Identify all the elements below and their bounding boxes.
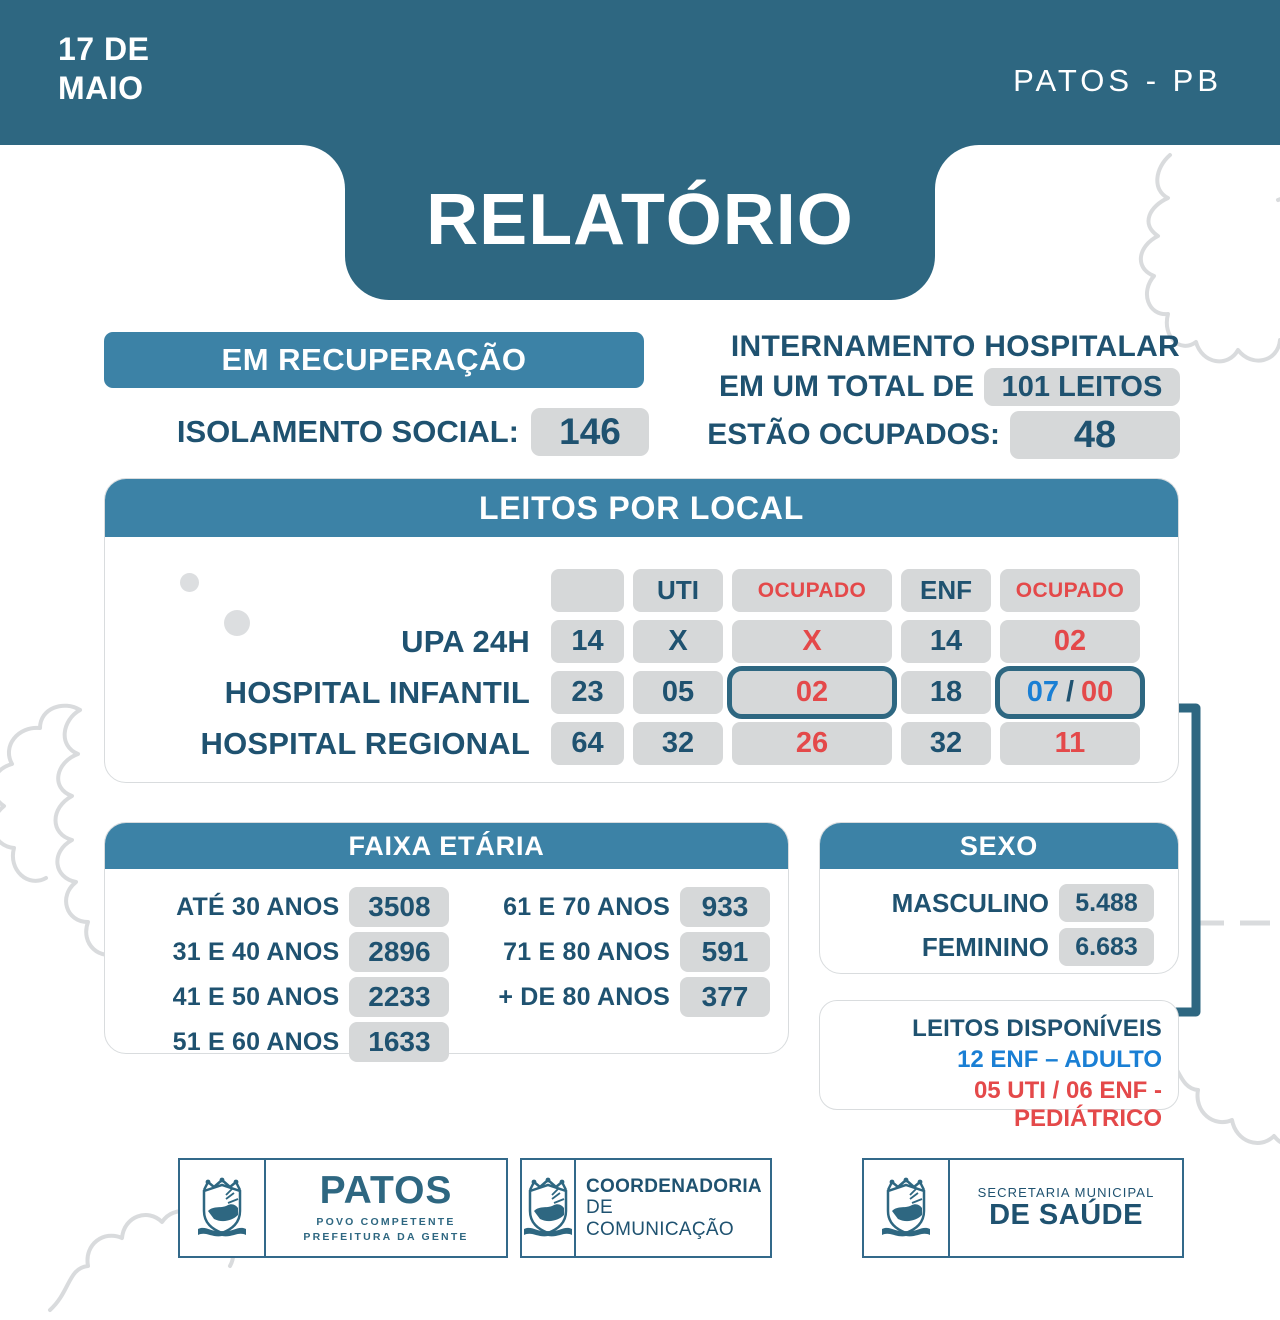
cell-regional-enf: 32 bbox=[901, 722, 991, 765]
cell-infantil-uti-ocupado-highlighted: 02 bbox=[732, 671, 892, 714]
report-date-line1: 17 DE bbox=[58, 30, 149, 69]
logo-coordenadoria-line1: COORDENADORIA bbox=[586, 1176, 762, 1197]
infantil-enf-ocupado-a: 07 bbox=[1027, 676, 1059, 709]
sex-value-feminino: 6.683 bbox=[1059, 928, 1154, 966]
col-header-total bbox=[551, 569, 624, 612]
cell-infantil-total: 23 bbox=[551, 671, 624, 714]
available-pediatric: 05 UTI / 06 ENF - PEDIÁTRICO bbox=[820, 1077, 1162, 1133]
logo-patos-name: PATOS bbox=[320, 1171, 453, 1210]
hospital-total-value: 101 LEITOS bbox=[984, 368, 1180, 406]
age-card-title: FAIXA ETÁRIA bbox=[348, 831, 544, 862]
sex-card-body: MASCULINO 5.488 FEMININO 6.683 bbox=[820, 869, 1178, 967]
logo-patos-text: PATOS POVO COMPETENTE PREFEITURA DA GENT… bbox=[266, 1160, 506, 1256]
age-value-ate30: 3508 bbox=[349, 887, 449, 927]
hospital-total-label: EM UM TOTAL DE bbox=[719, 370, 974, 404]
cell-regional-uti-ocupado: 26 bbox=[732, 722, 892, 765]
logo-secretaria-saude: SECRETARIA MUNICIPAL DE SAÚDE bbox=[862, 1158, 1184, 1258]
available-adult: 12 ENF – ADULTO bbox=[820, 1046, 1162, 1074]
age-row: 41 E 50 ANOS 2233 bbox=[123, 977, 449, 1017]
logo-coordenadoria-line2: DE COMUNICAÇÃO bbox=[586, 1197, 762, 1240]
hospitalization-stat: INTERNAMENTO HOSPITALAR EM UM TOTAL DE 1… bbox=[660, 328, 1180, 459]
age-row: 31 E 40 ANOS 2896 bbox=[123, 932, 449, 972]
isolation-value: 146 bbox=[531, 408, 649, 456]
logo-patos-tagline-1: POVO COMPETENTE bbox=[303, 1215, 468, 1230]
isolation-stat: ISOLAMENTO SOCIAL: 146 bbox=[104, 406, 649, 458]
beds-by-location-card: LEITOS POR LOCAL UTI OCUPADO ENF OCUPADO… bbox=[104, 478, 1179, 783]
age-card-header: FAIXA ETÁRIA bbox=[105, 823, 788, 869]
sex-card-header: SEXO bbox=[820, 823, 1178, 869]
hospitalization-occupied-row: ESTÃO OCUPADOS: 48 bbox=[660, 411, 1180, 459]
logo-saude-line2: DE SAÚDE bbox=[989, 1200, 1143, 1230]
age-row: 71 E 80 ANOS 591 bbox=[455, 932, 770, 972]
age-value-61-70: 933 bbox=[680, 887, 770, 927]
city-label: PATOS - PB bbox=[1013, 63, 1222, 99]
top-bar: 17 DE MAIO PATOS - PB bbox=[0, 0, 1280, 145]
cell-infantil-uti: 05 bbox=[633, 671, 723, 714]
row-label-hospital-regional: HOSPITAL REGIONAL bbox=[171, 726, 542, 762]
hospital-occupied-value: 48 bbox=[1010, 411, 1180, 459]
sex-label-feminino: FEMININO bbox=[922, 932, 1049, 963]
recovery-label: EM RECUPERAÇÃO bbox=[222, 342, 527, 378]
age-label-61-70: 61 E 70 ANOS bbox=[455, 893, 670, 922]
age-value-41-50: 2233 bbox=[349, 977, 449, 1017]
title-notch-left bbox=[297, 145, 345, 193]
coat-of-arms-icon bbox=[522, 1160, 576, 1256]
row-label-hospital-infantil: HOSPITAL INFANTIL bbox=[171, 675, 542, 711]
cell-upa-uti: X bbox=[633, 620, 723, 663]
age-column-right: 61 E 70 ANOS 933 71 E 80 ANOS 591 + DE 8… bbox=[455, 887, 770, 1062]
cell-regional-total: 64 bbox=[551, 722, 624, 765]
title-notch-right bbox=[935, 145, 983, 193]
logo-patos-tagline-2: PREFEITURA DA GENTE bbox=[303, 1230, 468, 1245]
col-header-enf-ocupado: OCUPADO bbox=[1000, 569, 1140, 612]
age-row: ATÉ 30 ANOS 3508 bbox=[123, 887, 449, 927]
footer-logos: PATOS POVO COMPETENTE PREFEITURA DA GENT… bbox=[0, 1152, 1280, 1264]
report-date-line2: MAIO bbox=[58, 69, 149, 108]
cell-upa-uti-ocupado: X bbox=[732, 620, 892, 663]
age-label-41-50: 41 E 50 ANOS bbox=[123, 983, 339, 1012]
hospitalization-total-row: EM UM TOTAL DE 101 LEITOS bbox=[660, 368, 1180, 406]
age-row: + DE 80 ANOS 377 bbox=[455, 977, 770, 1017]
table-header-row: UTI OCUPADO ENF OCUPADO bbox=[171, 569, 1140, 612]
age-value-over80: 377 bbox=[680, 977, 770, 1017]
age-card-body: ATÉ 30 ANOS 3508 31 E 40 ANOS 2896 41 E … bbox=[105, 869, 788, 1062]
cell-upa-enf-ocupado: 02 bbox=[1000, 620, 1140, 663]
page-title-label: RELATÓRIO bbox=[426, 184, 854, 256]
infantil-enf-ocupado-sep: / bbox=[1066, 676, 1074, 709]
age-column-left: ATÉ 30 ANOS 3508 31 E 40 ANOS 2896 41 E … bbox=[123, 887, 449, 1062]
age-label-51-60: 51 E 60 ANOS bbox=[123, 1028, 339, 1057]
age-label-31-40: 31 E 40 ANOS bbox=[123, 938, 339, 967]
sex-value-masculino: 5.488 bbox=[1059, 884, 1154, 922]
cell-regional-enf-ocupado: 11 bbox=[1000, 722, 1140, 765]
cell-regional-uti: 32 bbox=[633, 722, 723, 765]
cell-upa-total: 14 bbox=[551, 620, 624, 663]
hospitalization-title: INTERNAMENTO HOSPITALAR bbox=[660, 328, 1180, 366]
col-header-enf: ENF bbox=[901, 569, 991, 612]
age-range-card: FAIXA ETÁRIA ATÉ 30 ANOS 3508 31 E 40 AN… bbox=[104, 822, 789, 1054]
age-value-51-60: 1633 bbox=[349, 1022, 449, 1062]
age-row: 51 E 60 ANOS 1633 bbox=[123, 1022, 449, 1062]
age-row: 61 E 70 ANOS 933 bbox=[455, 887, 770, 927]
logo-patos: PATOS POVO COMPETENTE PREFEITURA DA GENT… bbox=[178, 1158, 508, 1258]
recovery-badge: EM RECUPERAÇÃO bbox=[104, 332, 644, 388]
age-label-71-80: 71 E 80 ANOS bbox=[455, 938, 670, 967]
isolation-label: ISOLAMENTO SOCIAL: bbox=[177, 414, 519, 450]
col-header-uti: UTI bbox=[633, 569, 723, 612]
hospital-occupied-label: ESTÃO OCUPADOS: bbox=[707, 418, 1000, 452]
cell-infantil-enf: 18 bbox=[901, 671, 991, 714]
sex-card-title: SEXO bbox=[960, 831, 1038, 862]
report-date: 17 DE MAIO bbox=[58, 30, 149, 108]
logo-coordenadoria: COORDENADORIA DE COMUNICAÇÃO bbox=[520, 1158, 772, 1258]
sex-card: SEXO MASCULINO 5.488 FEMININO 6.683 bbox=[819, 822, 1179, 974]
summary-stats: EM RECUPERAÇÃO ISOLAMENTO SOCIAL: 146 IN… bbox=[0, 330, 1280, 470]
page-title: RELATÓRIO bbox=[345, 145, 935, 300]
coat-of-arms-icon bbox=[864, 1160, 950, 1256]
table-row: UPA 24H 14 X X 14 02 bbox=[171, 620, 1140, 663]
sex-label-masculino: MASCULINO bbox=[892, 888, 1049, 919]
table-row: HOSPITAL REGIONAL 64 32 26 32 11 bbox=[171, 722, 1140, 765]
row-label-upa: UPA 24H bbox=[171, 624, 542, 660]
logo-coordenadoria-text: COORDENADORIA DE COMUNICAÇÃO bbox=[576, 1160, 772, 1256]
coat-of-arms-icon bbox=[180, 1160, 266, 1256]
cell-upa-enf: 14 bbox=[901, 620, 991, 663]
available-beds-card: LEITOS DISPONÍVEIS 12 ENF – ADULTO 05 UT… bbox=[819, 1000, 1179, 1110]
sex-row: MASCULINO 5.488 bbox=[838, 883, 1154, 923]
logo-secretaria-saude-text: SECRETARIA MUNICIPAL DE SAÚDE bbox=[950, 1160, 1182, 1256]
beds-card-title: LEITOS POR LOCAL bbox=[479, 490, 804, 527]
beds-card-header: LEITOS POR LOCAL bbox=[105, 479, 1178, 537]
beds-table: UTI OCUPADO ENF OCUPADO UPA 24H 14 X X 1… bbox=[171, 569, 1140, 765]
sex-row: FEMININO 6.683 bbox=[838, 927, 1154, 967]
logo-patos-tagline: POVO COMPETENTE PREFEITURA DA GENTE bbox=[303, 1215, 468, 1244]
age-value-31-40: 2896 bbox=[349, 932, 449, 972]
available-title: LEITOS DISPONÍVEIS bbox=[820, 1015, 1162, 1043]
cell-infantil-enf-ocupado-highlighted: 07 / 00 bbox=[1000, 671, 1140, 714]
age-value-71-80: 591 bbox=[680, 932, 770, 972]
age-label-ate30: ATÉ 30 ANOS bbox=[123, 893, 339, 922]
table-row: HOSPITAL INFANTIL 23 05 02 18 07 / 00 bbox=[171, 671, 1140, 714]
infantil-enf-ocupado-b: 00 bbox=[1081, 676, 1113, 709]
col-header-uti-ocupado: OCUPADO bbox=[732, 569, 892, 612]
age-label-over80: + DE 80 ANOS bbox=[455, 983, 670, 1012]
